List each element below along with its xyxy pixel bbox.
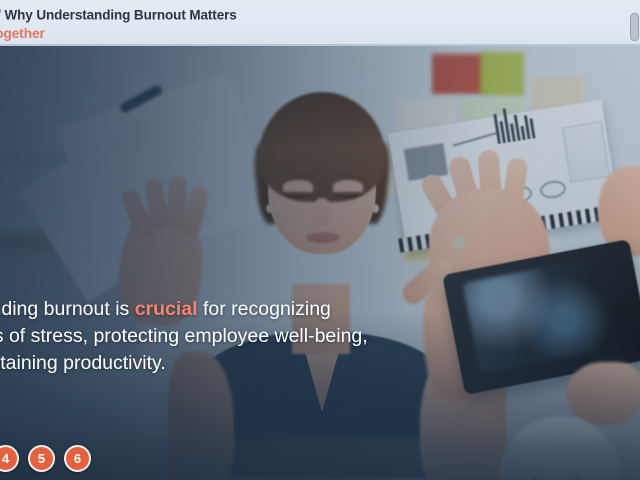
slide-viewer: riefs® Why Understanding Burnout Matters… xyxy=(0,0,640,480)
body-line-1-post: for recognizing xyxy=(198,298,331,320)
pagination: 4 5 6 xyxy=(0,445,91,472)
body-highlight-word: crucial xyxy=(135,298,198,320)
slide-image: rstanding burnout is crucial for recogni… xyxy=(0,46,640,480)
body-line-3: maintaining productivity. xyxy=(0,350,438,377)
pagination-dot-4[interactable]: 4 xyxy=(0,445,19,472)
header-bar: riefs® Why Understanding Burnout Matters… xyxy=(0,0,640,46)
page-title-rest: Why Understanding Burnout Matters xyxy=(1,8,237,23)
body-line-2: signs of stress, protecting employee wel… xyxy=(0,323,438,350)
body-line-1-pre: rstanding burnout is xyxy=(0,298,135,320)
pagination-dot-6[interactable]: 6 xyxy=(64,445,91,472)
pagination-dot-5[interactable]: 5 xyxy=(28,445,55,472)
slide-body-text: rstanding burnout is crucial for recogni… xyxy=(0,296,438,377)
body-line-1: rstanding burnout is crucial for recogni… xyxy=(0,296,438,323)
scrollbar-thumb[interactable] xyxy=(630,13,639,41)
header-text-group: riefs® Why Understanding Burnout Matters… xyxy=(0,3,237,42)
page-title: riefs® Why Understanding Burnout Matters xyxy=(0,3,237,24)
page-subtitle: All Together xyxy=(0,25,237,42)
